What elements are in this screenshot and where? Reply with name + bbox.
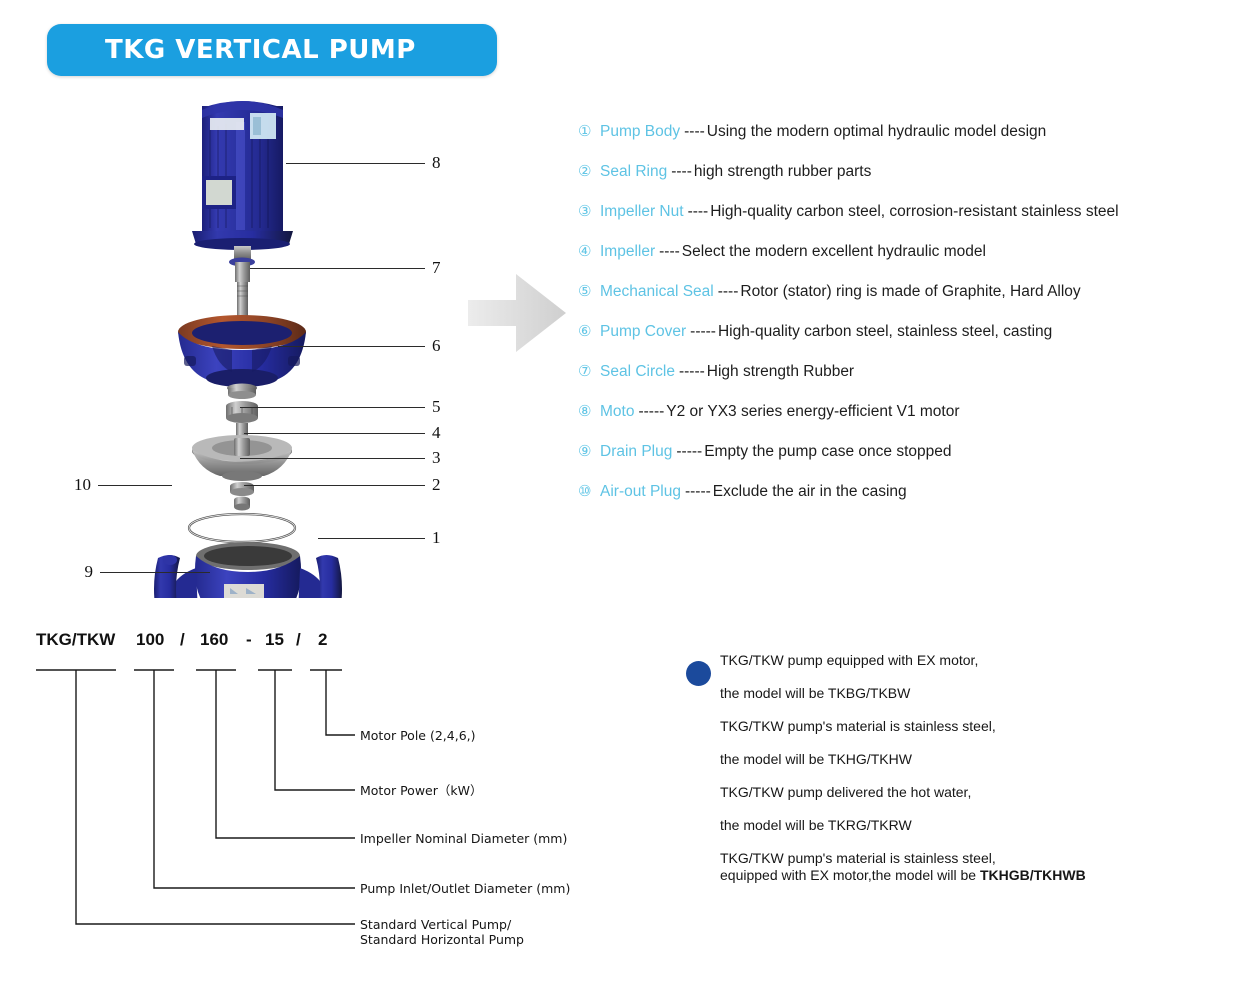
nomen-label-standard-vertical: Standard Vertical Pump/ [360,917,511,932]
impeller-nut-part [230,482,254,511]
legend-description: High strength Rubber [707,363,854,381]
page-root: TKG VERTICAL PUMP [0,0,1234,1000]
note-line-6: the model will be TKRG/TKRW [720,817,1220,834]
note-line-1: TKG/TKW pump equipped with EX motor, [720,652,1220,669]
legend-description: Empty the pump case once stopped [704,443,951,461]
legend-item-8: ⑧ Moto ----- Y2 or YX3 series energy-eff… [578,402,1228,442]
callout-3-number: 3 [432,449,441,466]
note-line-8: equipped with EX motor,the model will be… [720,867,1220,884]
legend-dash: ---- [659,243,680,261]
nomen-leader-lines [0,630,600,960]
legend-dash: ----- [685,483,711,501]
pump-body-part [154,542,342,598]
legend-dash: ---- [684,123,705,141]
nomen-label-motor-pole: Motor Pole (2,4,6,) [360,728,476,743]
page-title: TKG VERTICAL PUMP [47,35,416,65]
legend-part-name: Mechanical Seal [600,283,714,301]
legend-item-10: ⑩ Air-out Plug ----- Exclude the air in … [578,482,1228,522]
legend-dash: ----- [638,403,664,421]
legend-dash: ---- [688,203,709,221]
legend-description: high strength rubber parts [694,163,872,181]
callout-2-number: 2 [432,476,441,493]
model-variant-notes: TKG/TKW pump equipped with EX motor, the… [680,652,1220,884]
parts-legend-list: ① Pump Body ---- Using the modern optima… [578,122,1228,522]
callout-5-number: 5 [432,398,441,415]
legend-dash: ---- [671,163,692,181]
legend-description: High-quality carbon steel, stainless ste… [718,323,1052,341]
legend-dash: ----- [676,443,702,461]
callout-8-number: 8 [432,154,441,171]
nomen-label-impeller-diameter: Impeller Nominal Diameter (mm) [360,831,567,846]
callout-3-leader [240,458,425,459]
callout-8-leader [286,163,425,164]
circled-number-icon: ⑦ [578,362,600,380]
circled-number-icon: ① [578,122,600,140]
circled-number-icon: ⑧ [578,402,600,420]
note-line-8-model: TKHGB/TKHWB [980,867,1086,883]
legend-part-name: Pump Body [600,123,680,141]
legend-dash: ---- [718,283,739,301]
legend-part-name: Impeller Nut [600,203,684,221]
callout-4-number: 4 [432,424,441,441]
callout-10-number: 10 [74,476,91,493]
legend-item-3: ③ Impeller Nut ---- High-quality carbon … [578,202,1228,242]
notes-lines: TKG/TKW pump equipped with EX motor, the… [720,652,1220,884]
seal-ring-part [189,514,295,542]
nomen-label-standard-horizontal: Standard Horizontal Pump [360,932,524,947]
callout-1-leader [318,538,425,539]
legend-dash: ----- [690,323,716,341]
circled-number-icon: ⑤ [578,282,600,300]
nomen-label-inlet-outlet-diameter: Pump Inlet/Outlet Diameter (mm) [360,881,570,896]
note-line-3: TKG/TKW pump's material is stainless ste… [720,718,1220,735]
circled-number-icon: ② [578,162,600,180]
circled-number-icon: ④ [578,242,600,260]
legend-item-6: ⑥ Pump Cover ----- High-quality carbon s… [578,322,1228,362]
legend-description: High-quality carbon steel, corrosion-res… [710,203,1118,221]
circled-number-icon: ⑥ [578,322,600,340]
legend-description: Rotor (stator) ring is made of Graphite,… [740,283,1080,301]
note-line-4: the model will be TKHG/TKHW [720,751,1220,768]
circled-number-icon: ⑨ [578,442,600,460]
legend-item-5: ⑤ Mechanical Seal ---- Rotor (stator) ri… [578,282,1228,322]
callout-7-number: 7 [432,259,441,276]
legend-part-name: Impeller [600,243,655,261]
bullet-dot-icon [686,661,711,686]
legend-item-7: ⑦ Seal Circle ----- High strength Rubber [578,362,1228,402]
legend-part-name: Seal Ring [600,163,667,181]
legend-description: Y2 or YX3 series energy-efficient V1 mot… [666,403,959,421]
note-line-8-text: equipped with EX motor,the model will be [720,867,980,883]
right-arrow-icon [468,272,568,354]
legend-item-4: ④ Impeller ---- Select the modern excell… [578,242,1228,282]
circled-number-icon: ③ [578,202,600,220]
legend-item-9: ⑨ Drain Plug ----- Empty the pump case o… [578,442,1228,482]
callout-5-leader [240,407,425,408]
legend-description: Select the modern excellent hydraulic mo… [682,243,986,261]
callout-7-leader [250,268,425,269]
note-line-5: TKG/TKW pump delivered the hot water, [720,784,1220,801]
legend-part-name: Seal Circle [600,363,675,381]
legend-part-name: Drain Plug [600,443,672,461]
model-nomenclature-diagram: TKG/TKW 100 / 160 - 15 / 2 [0,630,600,960]
pump-cover-part [178,315,306,387]
legend-description: Exclude the air in the casing [713,483,907,501]
legend-item-1: ① Pump Body ---- Using the modern optima… [578,122,1228,162]
legend-part-name: Air-out Plug [600,483,681,501]
shaft-and-seal-circle [229,246,255,316]
callout-1-number: 1 [432,529,441,546]
note-line-7: TKG/TKW pump's material is stainless ste… [720,850,1220,867]
callout-2-leader [244,485,425,486]
legend-part-name: Moto [600,403,634,421]
legend-item-2: ② Seal Ring ---- high strength rubber pa… [578,162,1228,202]
legend-part-name: Pump Cover [600,323,686,341]
nomen-label-motor-power: Motor Power（kW） [360,783,483,798]
callout-9-leader [100,572,210,573]
callout-6-number: 6 [432,337,441,354]
legend-description: Using the modern optimal hydraulic model… [707,123,1046,141]
mechanical-seal-part [226,384,258,440]
motor-part [192,101,293,250]
callout-4-leader [244,433,425,434]
pump-exploded-diagram [140,88,440,598]
circled-number-icon: ⑩ [578,482,600,500]
legend-dash: ----- [679,363,705,381]
callout-9-number: 9 [85,563,94,580]
page-title-pill: TKG VERTICAL PUMP [47,24,497,76]
callout-6-leader [278,346,425,347]
callout-10-leader [98,485,172,486]
note-line-2: the model will be TKBG/TKBW [720,685,1220,702]
